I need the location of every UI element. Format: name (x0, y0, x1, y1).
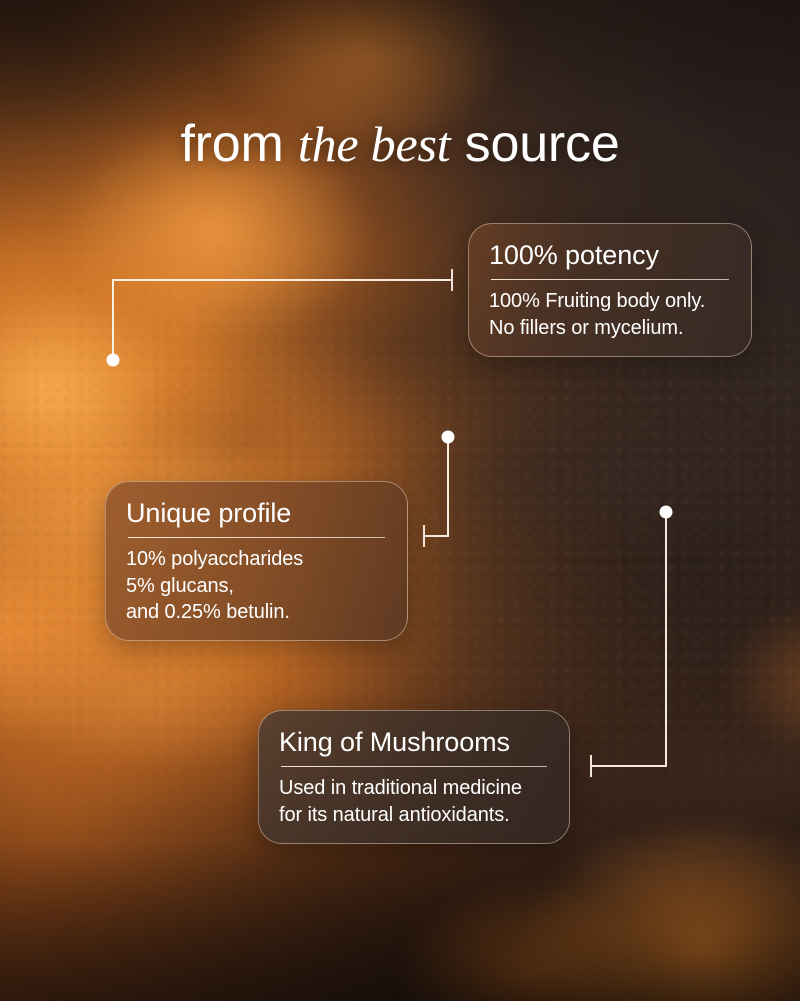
headline-part-1: from (180, 115, 297, 173)
card-divider (281, 766, 547, 767)
card-body-line-3: and 0.25% betulin. (126, 599, 387, 625)
card-divider (491, 279, 729, 280)
card-title: 100% potency (489, 240, 731, 270)
card-body-line-1: 100% Fruiting body only. (489, 288, 731, 314)
card-body-line-1: Used in traditional medicine (279, 775, 549, 801)
card-body-line-2: 5% glucans, (126, 573, 387, 599)
callout-card-potency: 100% potency 100% Fruiting body only. No… (468, 223, 752, 357)
card-divider (128, 537, 385, 538)
promo-banner: from the best source 100% potency 100% F… (0, 0, 800, 1001)
card-body-line-2: No fillers or mycelium. (489, 315, 731, 341)
headline-emphasis: the best (298, 116, 451, 172)
card-body-line-2: for its natural antioxidants. (279, 802, 549, 828)
headline-part-2: source (450, 115, 619, 173)
card-title: King of Mushrooms (279, 727, 549, 757)
page-title: from the best source (0, 117, 800, 172)
callout-card-unique-profile: Unique profile 10% polyaccharides 5% glu… (105, 481, 408, 641)
card-title: Unique profile (126, 498, 387, 528)
card-body-line-1: 10% polyaccharides (126, 546, 387, 572)
callout-card-king-of-mushrooms: King of Mushrooms Used in traditional me… (258, 710, 570, 844)
